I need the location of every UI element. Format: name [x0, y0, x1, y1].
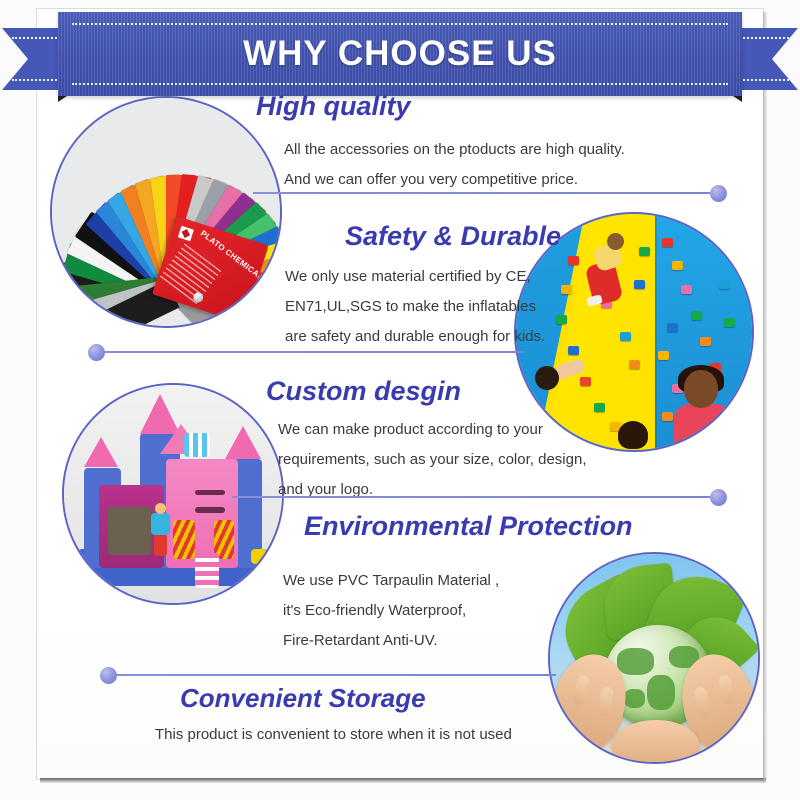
- section-body-line: Fire-Retardant Anti-UV.: [283, 626, 499, 656]
- section-body-line: All the accessories on the ptoducts are …: [284, 135, 625, 165]
- section-environmental-protection: Environmental Protection: [304, 512, 633, 542]
- divider-rule-3: [232, 496, 718, 498]
- title-ribbon: WHY CHOOSE US: [0, 12, 800, 96]
- section-body-line: EN71,UL,SGS to make the inflatables: [285, 292, 545, 322]
- section-high-quality: High quality All the accessories on the …: [256, 92, 625, 195]
- ribbon-stitch-top: [72, 23, 728, 25]
- child-smiling: [672, 370, 738, 450]
- divider-dot-3: [710, 489, 727, 506]
- child-bottom: [610, 421, 662, 452]
- card-bottom-shadow: [40, 778, 766, 783]
- section-safety-durable-body: We only use material certified by CE, EN…: [285, 262, 545, 352]
- divider-dot-2: [88, 344, 105, 361]
- section-convenient-storage-body: This product is convenient to store when…: [155, 720, 512, 750]
- section-body-line: We can make product according to your: [278, 415, 586, 445]
- section-heading: Convenient Storage: [180, 684, 426, 713]
- divider-rule-4: [116, 674, 556, 676]
- divider-rule-1: [253, 192, 718, 194]
- section-body-line: We only use material certified by CE,: [285, 262, 545, 292]
- section-body-line: it's Eco-friendly Waterproof,: [283, 596, 499, 626]
- section-custom-design: Custom desgin: [266, 377, 461, 407]
- divider-dot-1: [710, 185, 727, 202]
- divider-rule-2: [104, 351, 524, 353]
- page-title: WHY CHOOSE US: [243, 34, 557, 74]
- photo-color-swatch-fan: PLATO CHEMICAL: [50, 96, 282, 328]
- section-custom-design-body: We can make product according to your re…: [278, 415, 586, 505]
- ribbon-body: WHY CHOOSE US: [58, 12, 742, 96]
- section-body-line: We use PVC Tarpaulin Material ,: [283, 566, 499, 596]
- section-body-line: And we can offer you very competitive pr…: [284, 165, 625, 195]
- card-right-shadow: [763, 12, 767, 782]
- eco-globe-graphic: [550, 554, 758, 762]
- section-environmental-protection-body: We use PVC Tarpaulin Material , it's Eco…: [283, 566, 499, 656]
- photo-eco-globe: [548, 552, 760, 764]
- divider-dot-4: [100, 667, 117, 684]
- section-heading: Safety & Durable: [345, 222, 561, 252]
- section-body-line: are safety and durable enough for kids.: [285, 322, 545, 352]
- section-safety-durable: Safety & Durable: [345, 222, 561, 252]
- section-body-line: and your logo.: [278, 475, 586, 505]
- section-heading: Custom desgin: [266, 377, 461, 407]
- section-heading: Environmental Protection: [304, 512, 633, 542]
- plato-logo-icon: [178, 226, 194, 241]
- photo-bounce-castle: [62, 383, 284, 605]
- plato-card-fineprint: [159, 243, 222, 306]
- palms-base: [612, 720, 699, 764]
- child-reaching: [535, 360, 589, 404]
- bounce-castle-graphic: [64, 385, 282, 603]
- castle-cartoon-figure: [151, 503, 170, 556]
- section-body-line: requirements, such as your size, color, …: [278, 445, 586, 475]
- swatch-fan-graphic: PLATO CHEMICAL: [52, 98, 280, 326]
- section-heading: High quality: [256, 92, 625, 122]
- infographic-page: WHY CHOOSE US: [0, 0, 800, 800]
- section-body-line: This product is convenient to store when…: [155, 720, 512, 750]
- child-climbing: [587, 233, 627, 307]
- ribbon-stitch-bottom: [72, 83, 728, 85]
- section-convenient-storage: Convenient Storage: [180, 684, 426, 713]
- wall-seam: [655, 212, 657, 452]
